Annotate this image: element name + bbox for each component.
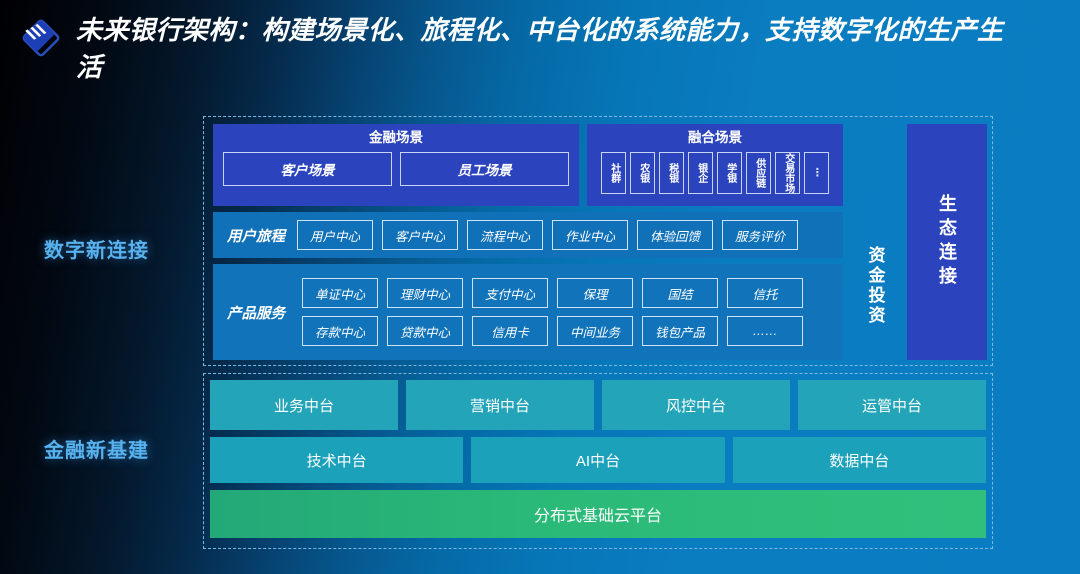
- section-label-digital-connection: 数字新连接: [44, 234, 149, 263]
- mid-platform-riskcontrol[interactable]: 风控中台: [602, 380, 790, 430]
- capital-investment-column: 资金投资: [847, 212, 903, 360]
- product-cell-deposit-center[interactable]: 存款中心: [302, 316, 378, 346]
- fusion-box-supply-chain[interactable]: 供应链: [746, 152, 771, 194]
- financial-scenario-panel: 金融场景 客户场景 员工场景: [213, 124, 579, 206]
- capital-investment-label: 资金投资: [867, 246, 884, 326]
- distributed-cloud-platform-bar[interactable]: 分布式基础云平台: [210, 490, 986, 538]
- fusion-box-more[interactable]: ⋮: [804, 152, 829, 194]
- mid-platform-data[interactable]: 数据中台: [733, 437, 986, 483]
- product-service-label: 产品服务: [227, 302, 285, 323]
- page-title: 未来银行架构：构建场景化、旅程化、中台化的系统能力，支持数字化的生产生活: [76, 12, 1006, 86]
- journey-cell-user-center[interactable]: 用户中心: [297, 220, 373, 250]
- mid-platform-marketing[interactable]: 营销中台: [406, 380, 594, 430]
- product-cell-factoring[interactable]: 保理: [557, 278, 633, 308]
- ecosystem-connection-label: 生态连接: [938, 194, 956, 290]
- fusion-scenario-panel: 融合场景 社群 农银 税银 银企 学银 供应链 交易市场 ⋮: [587, 124, 843, 206]
- user-journey-row: 用户旅程 用户中心 客户中心 流程中心 作业中心 体验回馈 服务评价: [213, 212, 843, 258]
- slide-header: 未来银行架构：构建场景化、旅程化、中台化的系统能力，支持数字化的生产生活: [0, 0, 1080, 105]
- product-cell-payment-center[interactable]: 支付中心: [472, 278, 548, 308]
- product-cell-settlement[interactable]: 国结: [642, 278, 718, 308]
- mid-platform-ai[interactable]: AI中台: [471, 437, 724, 483]
- fusion-scenario-items: 社群 农银 税银 银企 学银 供应链 交易市场 ⋮: [587, 152, 843, 194]
- journey-cell-experience-feedback[interactable]: 体验回馈: [637, 220, 713, 250]
- vertical-ellipsis-icon: ⋮: [812, 166, 821, 179]
- journey-cell-service-rating[interactable]: 服务评价: [722, 220, 798, 250]
- product-cell-intermediary[interactable]: 中间业务: [557, 316, 633, 346]
- product-cell-more[interactable]: ……: [727, 316, 803, 346]
- fusion-scenario-title: 融合场景: [688, 131, 742, 146]
- fusion-box-bank-corp[interactable]: 银企: [688, 152, 713, 194]
- product-cell-loan-center[interactable]: 贷款中心: [387, 316, 463, 346]
- fusion-box-agri-bank[interactable]: 农银: [630, 152, 655, 194]
- mid-platform-row-2: 技术中台 AI中台 数据中台: [210, 437, 986, 483]
- fusion-box-edu-bank[interactable]: 学银: [717, 152, 742, 194]
- journey-cell-process-center[interactable]: 流程中心: [467, 220, 543, 250]
- ecosystem-connection-column[interactable]: 生态连接: [907, 124, 987, 360]
- product-service-grid: 单证中心 理财中心 支付中心 保理 国结 信托 存款中心 贷款中心 信用卡 中间…: [302, 278, 803, 346]
- product-cell-wealth-center[interactable]: 理财中心: [387, 278, 463, 308]
- mid-platform-technology[interactable]: 技术中台: [210, 437, 463, 483]
- product-service-row: 产品服务 单证中心 理财中心 支付中心 保理 国结 信托 存款中心 贷款中心 信…: [213, 264, 843, 360]
- financial-scenario-title: 金融场景: [369, 131, 423, 146]
- product-cell-document-center[interactable]: 单证中心: [302, 278, 378, 308]
- fusion-box-tax-bank[interactable]: 税银: [659, 152, 684, 194]
- scenario-box-employee[interactable]: 员工场景: [400, 152, 569, 186]
- user-journey-label: 用户旅程: [227, 225, 285, 246]
- product-cell-trust[interactable]: 信托: [727, 278, 803, 308]
- journey-cell-customer-center[interactable]: 客户中心: [382, 220, 458, 250]
- diamond-logo-icon: [22, 19, 60, 57]
- financial-scenario-items: 客户场景 员工场景: [213, 152, 579, 186]
- product-cell-credit-card[interactable]: 信用卡: [472, 316, 548, 346]
- slide-canvas: 未来银行架构：构建场景化、旅程化、中台化的系统能力，支持数字化的生产生活 数字新…: [0, 0, 1080, 574]
- fusion-box-community[interactable]: 社群: [601, 152, 626, 194]
- scenario-box-customer[interactable]: 客户场景: [223, 152, 392, 186]
- section-label-financial-infrastructure: 金融新基建: [44, 434, 149, 463]
- mid-platform-row-1: 业务中台 营销中台 风控中台 运管中台: [210, 380, 986, 430]
- mid-platform-operations[interactable]: 运管中台: [798, 380, 986, 430]
- digital-connection-zone: 金融场景 客户场景 员工场景 融合场景 社群 农银 税银 银企 学银 供应链: [203, 116, 993, 366]
- product-row-2: 存款中心 贷款中心 信用卡 中间业务 钱包产品 ……: [302, 316, 803, 346]
- product-cell-wallet-product[interactable]: 钱包产品: [642, 316, 718, 346]
- mid-platform-business[interactable]: 业务中台: [210, 380, 398, 430]
- fusion-box-trade-market[interactable]: 交易市场: [775, 152, 800, 194]
- product-row-1: 单证中心 理财中心 支付中心 保理 国结 信托: [302, 278, 803, 308]
- journey-cell-operation-center[interactable]: 作业中心: [552, 220, 628, 250]
- financial-infrastructure-zone: 业务中台 营销中台 风控中台 运管中台 技术中台 AI中台 数据中台 分布式基础…: [203, 373, 993, 549]
- scenario-row: 金融场景 客户场景 员工场景 融合场景 社群 农银 税银 银企 学银 供应链: [213, 124, 843, 206]
